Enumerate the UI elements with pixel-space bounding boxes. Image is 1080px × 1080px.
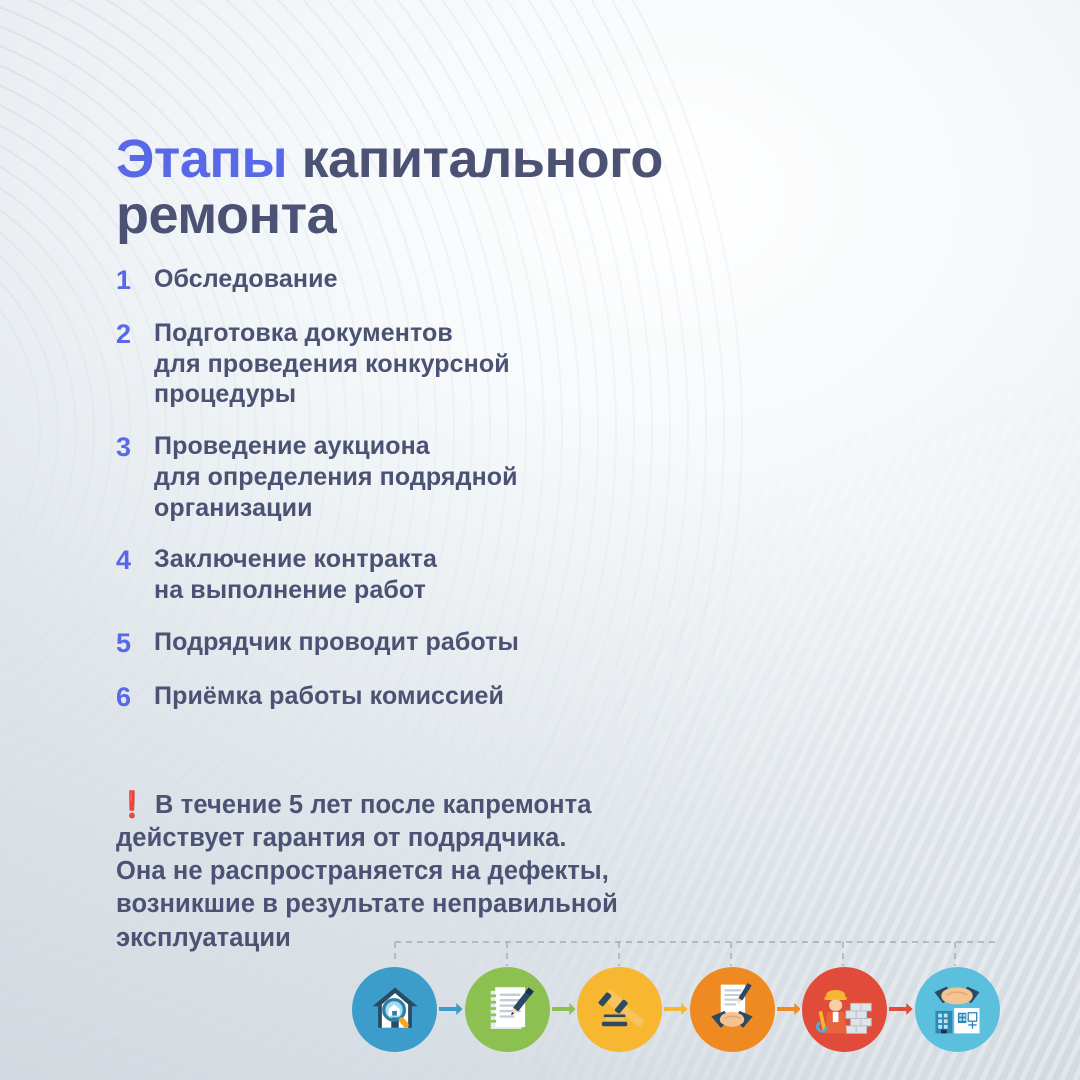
- list-item: 4 Заключение контракта на выполнение раб…: [116, 544, 816, 606]
- step-text: Подготовка документов для проведения кон…: [154, 318, 510, 410]
- steps-list: 1 Обследование 2 Подготовка документов д…: [116, 264, 816, 735]
- page-title-rest: капитального: [287, 129, 663, 189]
- flow-node-documents[interactable]: [465, 967, 550, 1052]
- process-flow: [0, 930, 1080, 1080]
- poster-canvas: Этапы капитальногоремонта 1 Обследование…: [0, 0, 1080, 1080]
- step-line: Подрядчик проводит работы: [154, 627, 519, 658]
- notice-line: ❗ В течение 5 лет после капремонта: [116, 789, 876, 822]
- step-line: Обследование: [154, 264, 338, 295]
- page-title-highlight: Этапы: [116, 129, 287, 189]
- flow-arrow: [889, 1006, 913, 1012]
- step-text: Приёмка работы комиссией: [154, 681, 504, 712]
- step-text: Заключение контракта на выполнение работ: [154, 544, 437, 606]
- list-item: 2 Подготовка документов для проведения к…: [116, 318, 816, 410]
- flow-node-row: [352, 963, 1000, 1055]
- list-item: 6 Приёмка работы комиссией: [116, 681, 816, 714]
- step-number: 6: [116, 681, 154, 714]
- page-title: Этапы капитальногоремонта: [116, 132, 936, 243]
- step-line: на выполнение работ: [154, 575, 437, 606]
- document-pen-icon: [478, 980, 536, 1038]
- notice-line: Она не распространяется на дефекты,: [116, 855, 876, 888]
- step-number: 3: [116, 431, 154, 464]
- flow-node-contract[interactable]: [690, 967, 775, 1052]
- notice-line: возникшие в результате неправильной: [116, 888, 876, 921]
- flow-node-inspection[interactable]: [352, 967, 437, 1052]
- step-number: 2: [116, 318, 154, 351]
- step-line: Подготовка документов: [154, 318, 510, 349]
- step-number: 5: [116, 627, 154, 660]
- list-item: 3 Проведение аукциона для определения по…: [116, 431, 816, 523]
- gavel-auction-icon: [591, 980, 649, 1038]
- deal-buildings-icon: [927, 979, 987, 1039]
- step-line: для проведения конкурсной: [154, 349, 510, 380]
- notice-line-text: В течение 5 лет после капремонта: [148, 791, 592, 819]
- flow-node-works[interactable]: [802, 967, 887, 1052]
- contract-handshake-icon: [702, 979, 762, 1039]
- list-item: 5 Подрядчик проводит работы: [116, 627, 816, 660]
- exclamation-icon: ❗: [116, 791, 148, 819]
- step-line: организации: [154, 493, 518, 524]
- step-text: Проведение аукциона для определения подр…: [154, 431, 518, 523]
- step-number: 4: [116, 544, 154, 577]
- step-text: Обследование: [154, 264, 338, 295]
- flow-arrow: [777, 1006, 801, 1012]
- builder-bricks-icon: [815, 979, 875, 1039]
- step-line: Приёмка работы комиссией: [154, 681, 504, 712]
- step-line: Проведение аукциона: [154, 431, 518, 462]
- flow-node-auction[interactable]: [577, 967, 662, 1052]
- list-item: 1 Обследование: [116, 264, 816, 297]
- flow-arrow: [552, 1006, 576, 1012]
- house-inspection-icon: [365, 979, 425, 1039]
- page-title-line2: ремонта: [116, 185, 336, 245]
- step-line: процедуры: [154, 379, 510, 410]
- flow-arrow: [439, 1006, 463, 1012]
- step-text: Подрядчик проводит работы: [154, 627, 519, 658]
- step-number: 1: [116, 264, 154, 297]
- step-line: для определения подрядной: [154, 462, 518, 493]
- flow-arrow: [664, 1006, 688, 1012]
- step-line: Заключение контракта: [154, 544, 437, 575]
- flow-node-acceptance[interactable]: [915, 967, 1000, 1052]
- notice-line: действует гарантия от подрядчика.: [116, 822, 876, 855]
